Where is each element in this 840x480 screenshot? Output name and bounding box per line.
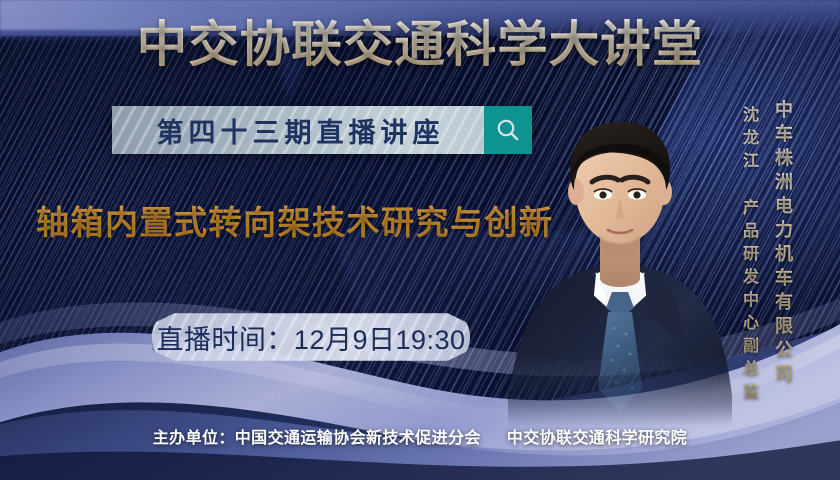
speaker-company: 中车株洲电力机车有限公司 — [770, 100, 796, 388]
episode-banner-body: 第四十三期直播讲座 — [112, 106, 484, 154]
page-title: 中交协联交通科学大讲堂 — [0, 16, 840, 76]
speaker-portrait — [508, 96, 732, 426]
broadcast-time-pill: 直播时间：12月9日19:30 — [152, 310, 470, 364]
footer-organizer-label: 主办单位：中国交通运输协会新技术促进分会 — [153, 430, 481, 447]
episode-label: 第四十三期直播讲座 — [152, 111, 445, 150]
episode-banner: 第四十三期直播讲座 — [112, 106, 532, 154]
topic-title: 轴箱内置式转向架技术研究与创新 — [36, 196, 554, 244]
search-icon — [495, 117, 521, 143]
footer-organizers: 主办单位：中国交通运输协会新技术促进分会中交协联交通科学研究院 — [0, 424, 840, 448]
search-icon-box[interactable] — [484, 106, 532, 154]
livestream-poster: 中交协联交通科学大讲堂 第四十三期直播讲座 轴箱内置式转向架技术研究与创新 直播… — [0, 0, 840, 480]
footer-co-organizer: 中交协联交通科学研究院 — [507, 430, 687, 447]
speaker-name-role: 沈龙江 产品研发中心副总监 — [736, 106, 760, 406]
broadcast-time-text: 直播时间：12月9日19:30 — [156, 318, 465, 357]
